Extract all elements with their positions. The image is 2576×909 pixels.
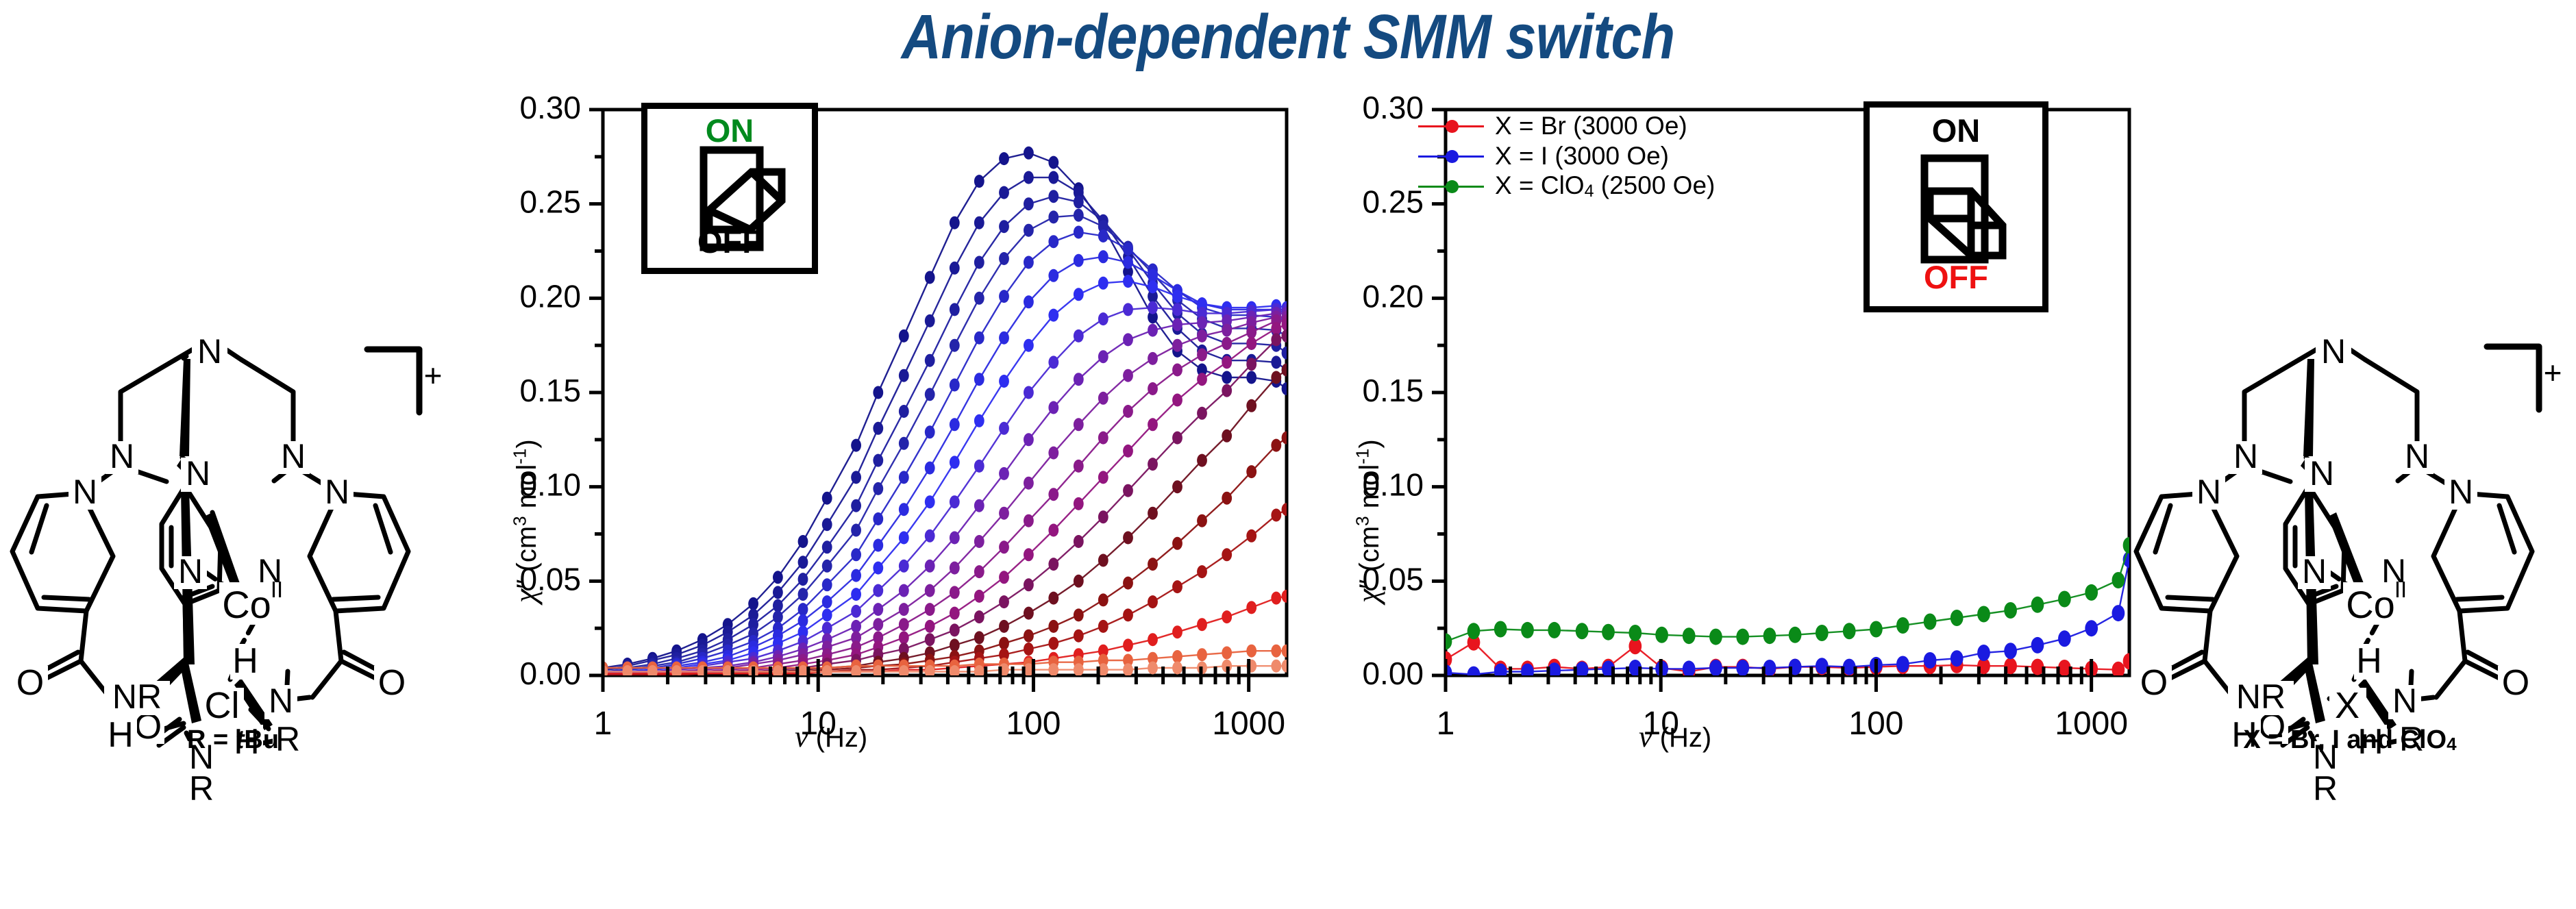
legend-label-clo4-pre: X = ClO xyxy=(1495,171,1585,199)
y-tick-label: 0.15 xyxy=(1362,373,1424,408)
charge-plus: + xyxy=(424,358,443,393)
atom-label-N: N xyxy=(2196,473,2221,511)
atom-label-N: N xyxy=(2309,454,2334,493)
atom-label-N: N xyxy=(186,454,210,493)
atom-label-N: N xyxy=(2449,473,2473,511)
y-tick-label: 0.25 xyxy=(519,184,581,220)
left-molecule-structure: N N N N N N N N Co II O O O NR xyxy=(0,82,466,808)
atom-label-N: N xyxy=(197,332,222,371)
caption-italic: t xyxy=(236,725,245,754)
caption-prefix: R = xyxy=(187,725,236,754)
page-title: Anion-dependent SMM switch xyxy=(155,1,2422,73)
right-switch-inset: ON OFF xyxy=(1863,101,2048,312)
atom-label-Co-oxidation: II xyxy=(271,577,283,602)
atom-label-Co: Co xyxy=(222,583,271,626)
legend-label-clo4-sub: 4 xyxy=(1585,182,1594,201)
atom-label-R: R xyxy=(2313,769,2338,808)
legend-label-i: X = I (3000 Oe) xyxy=(1495,142,1669,171)
right-chart-panel: 0.000.050.100.150.200.250.301101001000 χ… xyxy=(1322,82,2144,808)
atom-label-H: H xyxy=(232,641,258,681)
atom-label-NR: NR xyxy=(112,677,162,716)
left-switch-inset: ON OFF xyxy=(641,103,818,274)
atom-label-N: N xyxy=(178,552,203,590)
right-molecule-svg: N N N N N N N N Co II O O O NR xyxy=(2124,82,2576,808)
x-tick-label: 100 xyxy=(1006,706,1061,742)
atom-label-N: N xyxy=(2302,552,2327,590)
atom-label-O: O xyxy=(2502,663,2529,703)
atom-label-N: N xyxy=(269,682,293,720)
legend-item[interactable]: X = I (3000 Oe) xyxy=(1418,141,1715,171)
x-tick-label: 100 xyxy=(1848,706,1903,742)
y-tick-label: 0.25 xyxy=(1362,184,1424,220)
caption-suffix: Bu xyxy=(244,725,279,754)
legend-item[interactable]: X = ClO4 (2500 Oe) xyxy=(1418,171,1715,201)
atom-label-H: H xyxy=(2356,641,2382,681)
y-tick-label: 0.20 xyxy=(519,278,581,314)
y-tick-label: 0.30 xyxy=(1362,90,1424,125)
right-molecule-caption: X = Br, I and ClO4 xyxy=(2124,725,2576,755)
x-tick-label: 1 xyxy=(1437,706,1455,742)
legend-label-clo4-post: (2500 Oe) xyxy=(1594,171,1715,199)
atom-label-O: O xyxy=(378,663,406,703)
atom-label-R: R xyxy=(189,769,214,808)
legend-item[interactable]: X = Br (3000 Oe) xyxy=(1418,111,1715,141)
atom-label-Co-oxidation: II xyxy=(2394,577,2407,602)
charge-plus: + xyxy=(2544,355,2562,390)
right-chart-legend: X = Br (3000 Oe) X = I (3000 Oe) X = ClO… xyxy=(1418,111,1715,201)
atom-label-Cl: Cl xyxy=(205,685,240,726)
legend-label-clo4: X = ClO4 (2500 Oe) xyxy=(1495,171,1715,201)
left-chart-xlabel: ν (Hz) xyxy=(795,719,867,754)
atom-label-N: N xyxy=(281,437,306,475)
y-tick-label: 0.00 xyxy=(1362,656,1424,691)
legend-swatch-clo4 xyxy=(1418,186,1484,188)
left-molecule-svg: N N N N N N N N Co II O O O NR xyxy=(0,82,466,808)
y-tick-label: 0.30 xyxy=(519,90,581,125)
y-tick-label: 0.15 xyxy=(519,373,581,408)
atom-label-N: N xyxy=(2321,332,2346,371)
atom-label-N: N xyxy=(2233,437,2258,475)
atom-label-NR: NR xyxy=(2236,677,2286,716)
y-tick-label: 0.00 xyxy=(519,656,581,691)
right-chart-ylabel: χ″ (cm3 mol-1) xyxy=(1350,439,1386,603)
right-chart-xlabel: ν (Hz) xyxy=(1639,719,1711,754)
left-chart-panel: 0.000.050.100.150.200.250.301101001000 χ… xyxy=(480,82,1302,808)
atom-label-N: N xyxy=(73,473,97,511)
x-tick-label: 1 xyxy=(594,706,612,742)
atom-label-N: N xyxy=(2405,437,2429,475)
left-chart-ylabel: χ″ (cm3 mol-1) xyxy=(507,439,543,603)
x-tick-label: 1000 xyxy=(1212,706,1285,742)
right-molecule-structure: N N N N N N N N Co II O O O NR xyxy=(2124,82,2576,808)
atom-label-X: X xyxy=(2335,685,2360,726)
x-tick-label: 1000 xyxy=(2055,706,2128,742)
switch-off-label: OFF xyxy=(1870,261,2042,293)
caption-sub: 4 xyxy=(2447,734,2456,754)
y-tick-label: 0.20 xyxy=(1362,278,1424,314)
legend-swatch-br xyxy=(1418,125,1484,127)
atom-label-N: N xyxy=(2392,682,2417,720)
legend-swatch-i xyxy=(1418,155,1484,158)
legend-label-br: X = Br (3000 Oe) xyxy=(1495,112,1687,140)
switch-off-label: OFF xyxy=(647,225,812,258)
left-chart-svg: 0.000.050.100.150.200.250.301101001000 xyxy=(480,82,1302,808)
atom-label-N: N xyxy=(110,437,134,475)
caption-text: X = Br, I and ClO xyxy=(2243,725,2447,754)
atom-label-O: O xyxy=(2140,663,2168,703)
atom-label-O: O xyxy=(16,663,44,703)
atom-label-N: N xyxy=(325,473,349,511)
left-molecule-caption: R = tBu xyxy=(0,725,466,755)
atom-label-Co: Co xyxy=(2346,583,2395,626)
